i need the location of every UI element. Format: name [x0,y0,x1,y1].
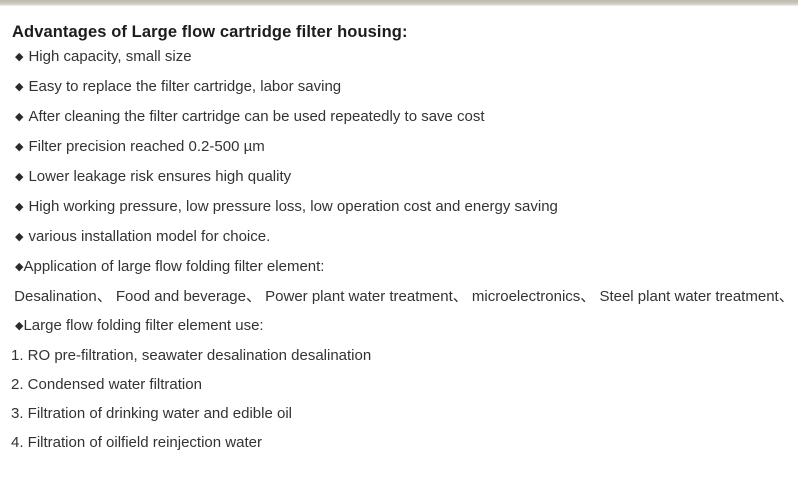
usage-section: ◆Large flow folding filter element use: … [0,311,798,457]
advantages-list: ◆High capacity, small size ◆Easy to repl… [0,42,798,252]
application-heading-label: Application of large flow folding filter… [23,258,324,275]
diamond-bullet-icon: ◆ [15,133,23,162]
diamond-bullet-icon: ◆ [15,43,23,72]
list-item-label: various installation model for choice. [28,228,270,245]
list-item-label: Lower leakage risk ensures high quality [28,168,291,185]
list-item: ◆Lower leakage risk ensures high quality [0,162,798,192]
list-item: ◆Easy to replace the filter cartridge, l… [0,72,798,102]
application-heading: ◆Application of large flow folding filte… [0,252,798,282]
list-item-label: Easy to replace the filter cartridge, la… [28,78,341,95]
list-item: 4. Filtration of oilfield reinjection wa… [0,428,798,457]
list-item-label: High working pressure, low pressure loss… [28,198,557,215]
application-section: ◆Application of large flow folding filte… [0,252,798,311]
diamond-bullet-icon: ◆ [15,73,23,102]
list-item: ◆High capacity, small size [0,42,798,72]
usage-heading-label: Large flow folding filter element use: [23,317,263,334]
application-values: Desalination、 Food and beverage、 Power p… [0,282,798,311]
list-item-label: High capacity, small size [28,48,191,65]
diamond-bullet-icon: ◆ [15,163,23,192]
diamond-bullet-icon: ◆ [15,223,23,252]
page-title: Advantages of Large flow cartridge filte… [0,6,798,42]
diamond-bullet-icon: ◆ [15,103,23,132]
list-item: ◆Filter precision reached 0.2-500 µm [0,132,798,162]
list-item-label: Filter precision reached 0.2-500 µm [28,138,264,155]
list-item-label: After cleaning the filter cartridge can … [28,108,484,125]
list-item: ◆various installation model for choice. [0,222,798,252]
list-item: 3. Filtration of drinking water and edib… [0,399,798,428]
diamond-bullet-icon: ◆ [15,193,23,222]
list-item: ◆High working pressure, low pressure los… [0,192,798,222]
usage-list: 1. RO pre-filtration, seawater desalinat… [0,341,798,457]
list-item: ◆After cleaning the filter cartridge can… [0,102,798,132]
usage-heading: ◆Large flow folding filter element use: [0,311,798,341]
list-item: 2. Condensed water filtration [0,370,798,399]
product-description-panel: Advantages of Large flow cartridge filte… [0,6,798,457]
list-item: 1. RO pre-filtration, seawater desalinat… [0,341,798,370]
